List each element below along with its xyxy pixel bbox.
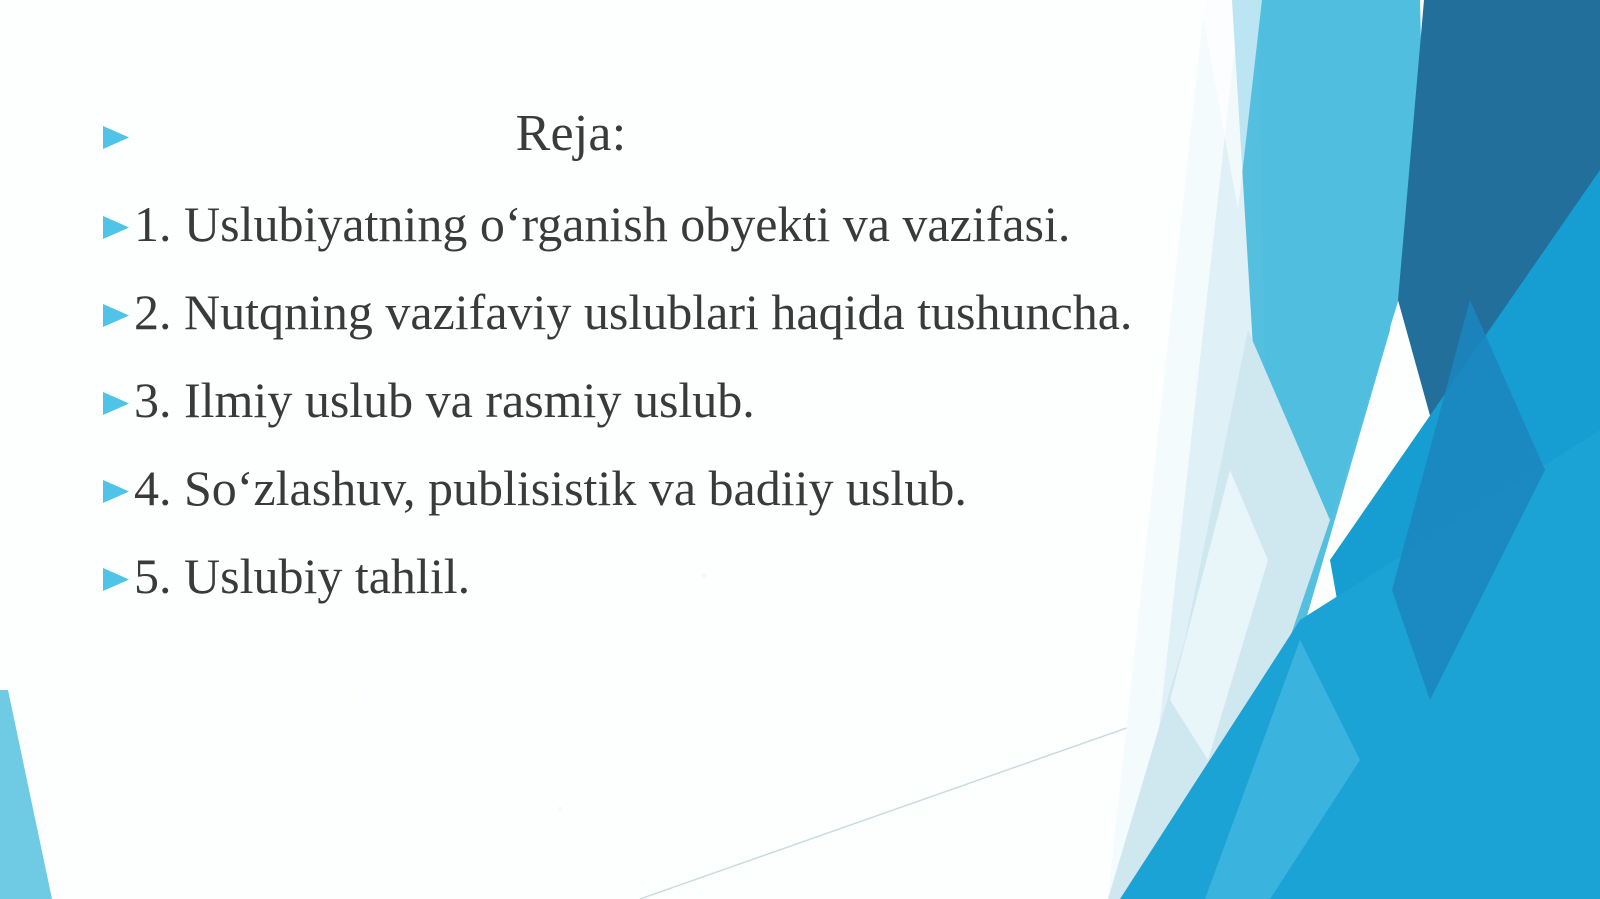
- list-item-label: 5. Uslubiy tahlil.: [134, 548, 470, 603]
- triangle-right-icon: [100, 212, 132, 244]
- list-item-label: 4. So‘zlashuv, publisistik va badiiy usl…: [134, 460, 967, 515]
- list-item: 1. Uslubiyatning o‘rganish obyekti va va…: [100, 196, 1500, 284]
- list-item: 3. Ilmiy uslub va rasmiy uslub.: [100, 372, 1500, 460]
- list-item-label: 2. Nutqning vazifaviy uslublari haqida t…: [134, 284, 1132, 339]
- triangle-right-icon: [100, 122, 132, 154]
- presentation-slide: Reja: 1. Uslubiyatning o‘rganish obyekti…: [0, 0, 1600, 899]
- list-item: 5. Uslubiy tahlil.: [100, 548, 1500, 636]
- triangle-right-icon: [100, 564, 132, 596]
- list-item: 4. So‘zlashuv, publisistik va badiiy usl…: [100, 460, 1500, 548]
- list-item-label: 1. Uslubiyatning o‘rganish obyekti va va…: [134, 196, 1070, 251]
- page-title: Reja:: [132, 108, 1120, 160]
- triangle-right-icon: [100, 300, 132, 332]
- reja-bullet-list: 1. Uslubiyatning o‘rganish obyekti va va…: [100, 196, 1500, 636]
- list-item: 2. Nutqning vazifaviy uslublari haqida t…: [100, 284, 1500, 372]
- triangle-right-icon: [100, 476, 132, 508]
- list-item-label: 3. Ilmiy uslub va rasmiy uslub.: [134, 372, 755, 427]
- triangle-right-icon: [100, 388, 132, 420]
- slide-title-row: Reja:: [100, 108, 1120, 186]
- slide-content: Reja: 1. Uslubiyatning o‘rganish obyekti…: [0, 0, 1600, 899]
